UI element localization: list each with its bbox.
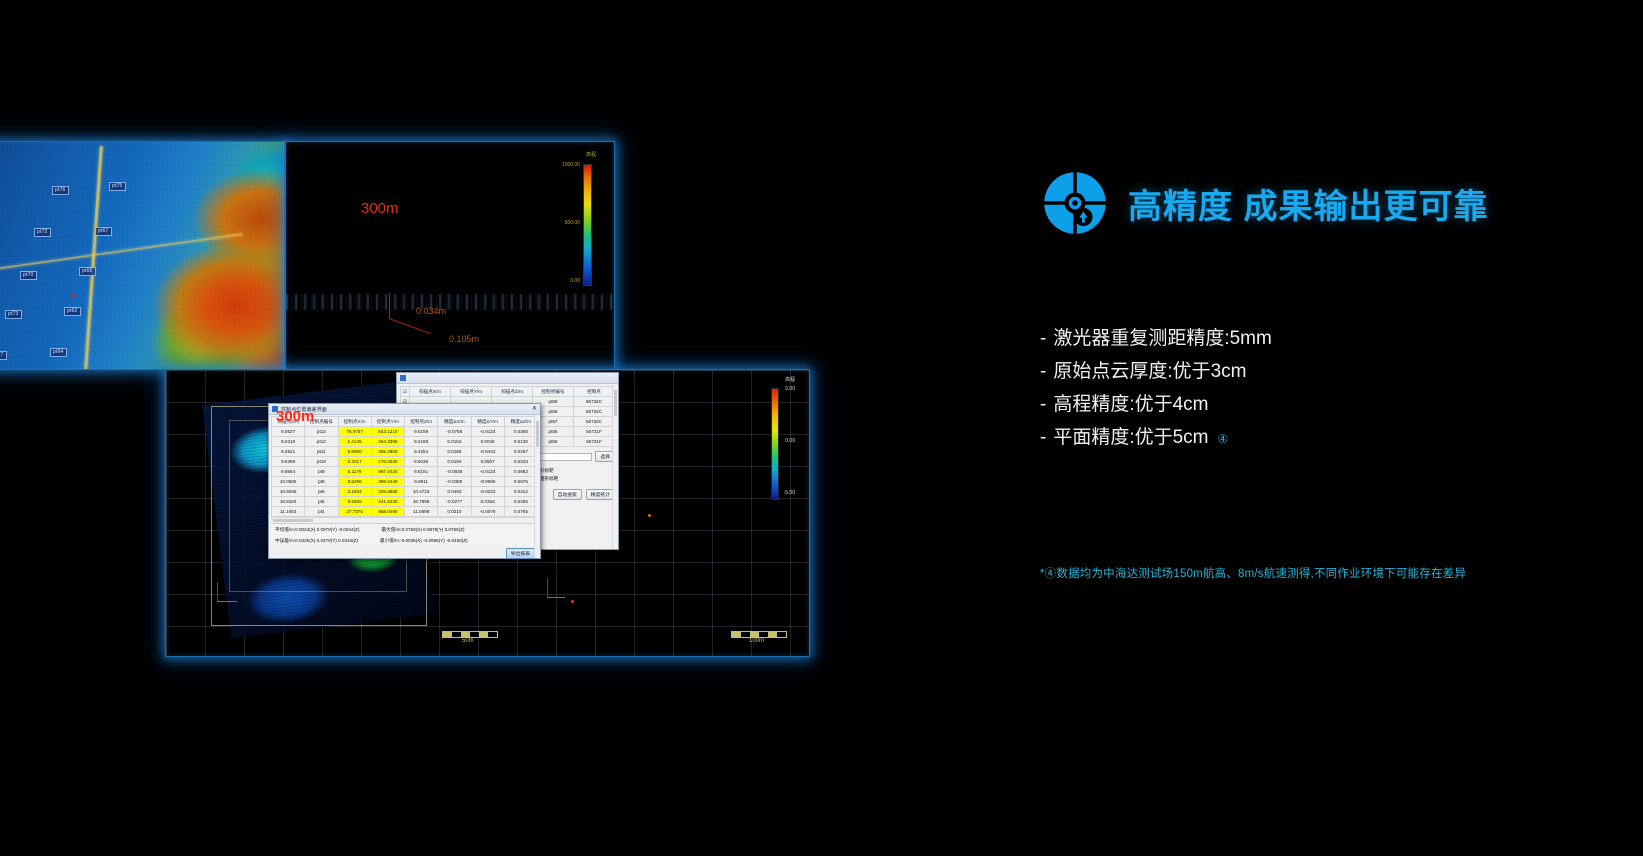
control-point-tag: pt70 <box>20 271 37 280</box>
export-report-button[interactable]: 导出报表 <box>506 548 535 559</box>
cell-scan-z: 9.2310 <box>272 437 305 447</box>
software-distance-label-300m: 300m <box>276 408 314 425</box>
cell-cp-x: 76.9757 <box>338 427 371 437</box>
col-dx: 精度ΔX/m <box>438 417 471 427</box>
cell-cp-y: 441.9430 <box>371 497 404 507</box>
table-row[interactable]: 10.5035 pt6 2.1934 325.6580 10.4723 0.04… <box>272 487 538 497</box>
bullet-dash: - <box>1040 388 1046 421</box>
cell-dy: -0.0696 <box>471 477 504 487</box>
measure-value-2: 0.105m <box>449 334 479 344</box>
cell-dy: -0.0443 <box>471 447 504 457</box>
cell-cp-x: 5.1178 <box>338 467 371 477</box>
control-point-tag: pt72 <box>34 228 51 237</box>
cell-cp: 55732C <box>574 417 615 427</box>
software-colorbar-title: 高程 <box>785 376 795 383</box>
cell-cp-y: 843.1210 <box>371 427 404 437</box>
colorbar-tick: 0.00 <box>570 278 580 284</box>
window-icon <box>400 375 406 381</box>
col-cp-x: 控制点X/m <box>338 417 371 427</box>
stats-row-top: 平均值/m:0.0024(X) 0.0070(Y) -0.0044(Z) 最大值… <box>271 523 538 535</box>
list-item: - 原始点云厚度:优于3cm <box>1040 355 1281 388</box>
cell-dz: 0.0312 <box>504 487 537 497</box>
cell-cp-y: 365.2850 <box>371 447 404 457</box>
colorbar-title: 高程 <box>586 151 596 158</box>
table-row[interactable]: 11.1663 pt4 27.7376 958.0490 11.0898 0.0… <box>272 507 538 517</box>
headline-row: 高精度 成果输出更可靠 <box>1040 168 1488 238</box>
axis-marker-green-horizontal-2 <box>547 597 565 598</box>
table-row[interactable]: 10.0586 pt8 9.8296 398.3440 9.9911 -0.03… <box>272 477 538 487</box>
close-icon[interactable]: ✕ <box>532 406 537 412</box>
horizontal-scrollbar[interactable] <box>271 517 538 523</box>
axis-marker-red-vertical <box>217 582 218 602</box>
cell-cp-z: 10.4723 <box>405 487 438 497</box>
scrollbar-thumb[interactable] <box>273 519 313 522</box>
cell-dx: -0.0277 <box>438 497 471 507</box>
ground-points-band <box>286 294 614 310</box>
highlight-point-orange <box>648 514 651 517</box>
cell-scan-z: 9.8564 <box>272 467 305 477</box>
bullet-dash: - <box>1040 421 1046 454</box>
cell-dy: -0.0222 <box>471 487 504 497</box>
selected-point-marker <box>72 294 75 297</box>
cell-cp-id: pt9 <box>305 467 338 477</box>
scrollbar-thumb[interactable] <box>614 390 617 416</box>
bullet-dash: - <box>1040 322 1046 355</box>
cell-cp: 55732C <box>574 407 615 417</box>
cell-cp-y: 176.0030 <box>371 457 404 467</box>
cell-cp: 55731F <box>574 427 615 437</box>
cell-cp: 55731F <box>574 437 615 447</box>
cell-cp-id: pt6 <box>305 487 338 497</box>
col-dy: 精度ΔY/m <box>471 417 504 427</box>
cell-dy: -0.0124 <box>471 467 504 477</box>
footnote-text: *④数据均为中海达测试场150m航高、8m/s航速测得,不同作业环境下可能存在差… <box>1040 565 1466 581</box>
cell-dz: 0.0083 <box>504 467 537 477</box>
col-dz: 精度ΔZ/m <box>504 417 537 427</box>
axis-marker-green-horizontal <box>217 601 237 602</box>
cell-dx: -0.0388 <box>438 477 471 487</box>
distance-label-300m: 300m <box>361 200 399 217</box>
software-panel[interactable]: 50m 100m 高程 5.00 0.00 -5.00 ☑ <box>165 369 810 657</box>
cell-cp-y: 354.3390 <box>371 437 404 447</box>
bullet-dash: - <box>1040 355 1046 388</box>
dialog-front-buttons: 导出报表 <box>271 546 538 561</box>
list-item: - 高程精度:优于4cm <box>1040 388 1281 421</box>
cell-dz: 0.0343 <box>504 457 537 467</box>
cell-cp: 55732C <box>574 397 615 407</box>
cell-cp-z: 9.2180 <box>405 437 438 447</box>
cell-dz: 0.0267 <box>504 447 537 457</box>
control-point-tag: pt67 <box>95 227 112 236</box>
scalebar-right <box>731 631 787 638</box>
cell-cp-y: 958.0490 <box>371 507 404 517</box>
colorbar-tick: 1000.00 <box>562 162 580 168</box>
cell-dy: -0.0124 <box>471 427 504 437</box>
cross-section-panel[interactable]: 300m 0.034m 0.105m 高程 1000.00 500.00 0.0… <box>285 141 615 370</box>
cell-scan-z: 10.8183 <box>272 497 305 507</box>
vertical-scrollbar[interactable] <box>612 384 618 549</box>
cell-dy: -0.0076 <box>471 507 504 517</box>
table-row[interactable]: 10.8183 pt5 9.9206 441.9430 10.7898 -0.0… <box>272 497 538 507</box>
scalebar-left <box>442 631 498 638</box>
cell-cp-id: pt12 <box>305 437 338 447</box>
cell-dx: 0.0168 <box>438 447 471 457</box>
cell-scan-z: 10.5035 <box>272 487 305 497</box>
measure-leader-diagonal <box>389 318 431 334</box>
target-crosshair-icon <box>1040 168 1110 238</box>
cell-cp-x: 27.7376 <box>338 507 371 517</box>
cell-dz: 0.0675 <box>504 477 537 487</box>
col-cp-id: 控制点编号 <box>533 387 574 397</box>
stats-max: 最大值/m:0.0753(X) 0.0879(Y) 0.0765(Z) <box>382 526 465 533</box>
bullet-text: 原始点云厚度:优于3cm <box>1053 355 1246 388</box>
cell-dy: 0.0353 <box>471 497 504 507</box>
stats-mid: 中误差/m:0.0325(X) 0.0370(Y) 0.0316(Z) <box>275 537 358 544</box>
table-row[interactable]: 9.4521 pt11 5.8900 365.2850 9.4254 0.016… <box>272 447 538 457</box>
software-colorbar-tick: 5.00 <box>785 386 795 392</box>
point-cloud-noise-overlay <box>0 142 284 369</box>
deviation-table[interactable]: 扫描点Z/m 控制点编号 控制点X/m 控制点Y/m 控制点Z/m 精度ΔX/m… <box>271 416 538 517</box>
cell-cp-y: 987.4420 <box>371 467 404 477</box>
select-all-checkbox-header[interactable]: ☑ <box>401 387 410 397</box>
cell-cp-z: 9.8181 <box>405 467 438 477</box>
col-scan-y: 扫描点Y/m <box>451 387 492 397</box>
cell-cp-id: pt4 <box>305 507 338 517</box>
bullet-text: 平面精度:优于5cm <box>1053 421 1208 454</box>
table-row[interactable]: 9.0527 pt13 76.9757 843.1210 9.0159 -0.0… <box>272 427 538 437</box>
cell-dz: 0.0368 <box>504 427 537 437</box>
axis-marker-red-vertical-2 <box>547 578 548 598</box>
cell-dy: 0.0557 <box>471 457 504 467</box>
control-point-tag: pt73 <box>5 310 22 319</box>
stats-min: 最小值/m:-0.0036(X) -0.0696(Y) -0.0493(Z) <box>380 537 468 544</box>
point-cloud-map-panel[interactable]: pt76 pt75 pt72 pt67 pt70 pt66 pt73 pt62 … <box>0 141 285 370</box>
table-row[interactable]: 9.2310 pt12 1.4145 354.3390 9.2180 0.015… <box>272 437 538 447</box>
control-point-tag: pt76 <box>52 186 69 195</box>
control-point-tag: pt75 <box>109 182 126 191</box>
col-cp-y: 控制点Y/m <box>371 417 404 427</box>
cell-cp-id: pt8 <box>305 477 338 487</box>
control-point-tag: pt62 <box>64 307 81 316</box>
scrollbar-thumb[interactable] <box>536 421 539 447</box>
col-scan-z: 扫描点Z/m <box>492 387 533 397</box>
cell-cp-y: 398.3440 <box>371 477 404 487</box>
control-point-tag: pt66 <box>79 267 96 276</box>
bullet-superscript: ④ <box>1218 423 1229 456</box>
cell-scan-z: 11.1663 <box>272 507 305 517</box>
measure-leader-vertical <box>389 293 390 319</box>
elevation-colorbar: 高程 1000.00 500.00 0.00 <box>554 160 596 290</box>
cell-dy: 0.0042 <box>471 437 504 447</box>
list-item: - 平面精度:优于5cm ④ <box>1040 421 1281 456</box>
control-point-deviation-dialog[interactable]: 控制点位置偏差界面 ✕ 扫描点Z/m 控制点编号 控制点X/m 控制点Y/m 控… <box>268 403 541 559</box>
cell-cp-z: 10.7898 <box>405 497 438 507</box>
highlight-point-red <box>571 600 574 603</box>
cell-cp-id: pt5 <box>305 497 338 507</box>
cell-cp-x: 9.8296 <box>338 477 371 487</box>
software-colorbar-gradient <box>771 388 779 500</box>
cell-dz: 0.0765 <box>504 507 537 517</box>
table-row[interactable]: 9.6399 pt10 0.2017 176.0030 9.6036 0.019… <box>272 457 538 467</box>
list-item: - 激光器重复测距精度:5mm <box>1040 322 1281 355</box>
table-row[interactable]: 9.8564 pt9 5.1178 987.4420 9.8181 -0.093… <box>272 467 538 477</box>
cell-cp-z: 11.0898 <box>405 507 438 517</box>
visuals-group: pt76 pt75 pt72 pt67 pt70 pt66 pt73 pt62 … <box>0 0 860 856</box>
auto-search-button[interactable]: 自动搜索 <box>553 489 582 500</box>
cell-dz: 0.0285 <box>504 497 537 507</box>
col-scan-x: 扫描点X/m <box>410 387 451 397</box>
spec-list: - 激光器重复测距精度:5mm - 原始点云厚度:优于3cm - 高程精度:优于… <box>1040 322 1281 456</box>
colorbar-gradient <box>583 164 592 286</box>
accuracy-stats-button[interactable]: 精度统计 <box>586 489 615 500</box>
cell-cp-z: 9.0159 <box>405 427 438 437</box>
cell-dx: 0.0194 <box>438 457 471 467</box>
cell-dz: 0.0130 <box>504 437 537 447</box>
col-cp-z: 控制点Z/m <box>405 417 438 427</box>
scan-point-match-dialog-titlebar[interactable] <box>397 373 618 384</box>
cell-cp-z: 9.4254 <box>405 447 438 457</box>
measure-value-1: 0.034m <box>416 306 446 316</box>
cell-cp-x: 0.2017 <box>338 457 371 467</box>
cell-cp-x: 5.8900 <box>338 447 371 457</box>
colorbar-tick: 500.00 <box>565 220 580 226</box>
cell-cp-z: 9.6036 <box>405 457 438 467</box>
cell-dx: -0.0768 <box>438 427 471 437</box>
control-point-deviation-body: 扫描点Z/m 控制点编号 控制点X/m 控制点Y/m 控制点Z/m 精度ΔX/m… <box>269 415 540 561</box>
cell-dx: 0.0152 <box>438 437 471 447</box>
software-colorbar-tick: 0.00 <box>785 438 795 444</box>
cell-scan-z: 10.0586 <box>272 477 305 487</box>
content-column: 高精度 成果输出更可靠 - 激光器重复测距精度:5mm - 原始点云厚度:优于3… <box>1035 0 1643 856</box>
page-title: 高精度 成果输出更可靠 <box>1128 179 1488 228</box>
cell-cp-id: pt13 <box>305 427 338 437</box>
software-colorbar-tick: -5.00 <box>784 490 795 496</box>
scalebar-left-label: 50m <box>462 638 474 644</box>
cell-scan-z: 9.4521 <box>272 447 305 457</box>
vertical-scrollbar[interactable] <box>534 415 540 558</box>
cell-dx: 0.0493 <box>438 487 471 497</box>
software-elevation-colorbar: 高程 5.00 0.00 -5.00 <box>755 384 795 504</box>
bullet-text: 激光器重复测距精度:5mm <box>1053 322 1272 355</box>
cell-cp-id: pt10 <box>305 457 338 467</box>
cell-dx: -0.0938 <box>438 467 471 477</box>
cell-cp-x: 9.9206 <box>338 497 371 507</box>
control-point-tag: pt64 <box>50 348 67 357</box>
control-point-tag: pt77 <box>0 351 7 360</box>
col-cp: 控制点 <box>574 387 615 397</box>
cell-dx: 0.0210 <box>438 507 471 517</box>
cell-scan-z: 9.6399 <box>272 457 305 467</box>
table-header-row: ☑ 扫描点X/m 扫描点Y/m 扫描点Z/m 控制点编号 控制点 <box>401 387 615 397</box>
scalebar-right-label: 100m <box>749 638 764 644</box>
slide-root: pt76 pt75 pt72 pt67 pt70 pt66 pt73 pt62 … <box>0 0 1643 856</box>
cell-cp-y: 325.6580 <box>371 487 404 497</box>
cell-cp-id: pt11 <box>305 447 338 457</box>
cell-cp-x: 2.1934 <box>338 487 371 497</box>
stats-mean: 平均值/m:0.0024(X) 0.0070(Y) -0.0044(Z) <box>275 526 360 533</box>
cell-cp-z: 9.9911 <box>405 477 438 487</box>
bullet-text: 高程精度:优于4cm <box>1053 388 1208 421</box>
cell-cp-x: 1.4145 <box>338 437 371 447</box>
stats-row-bottom: 中误差/m:0.0325(X) 0.0370(Y) 0.0316(Z) 最小值/… <box>271 535 538 546</box>
cell-scan-z: 9.0527 <box>272 427 305 437</box>
